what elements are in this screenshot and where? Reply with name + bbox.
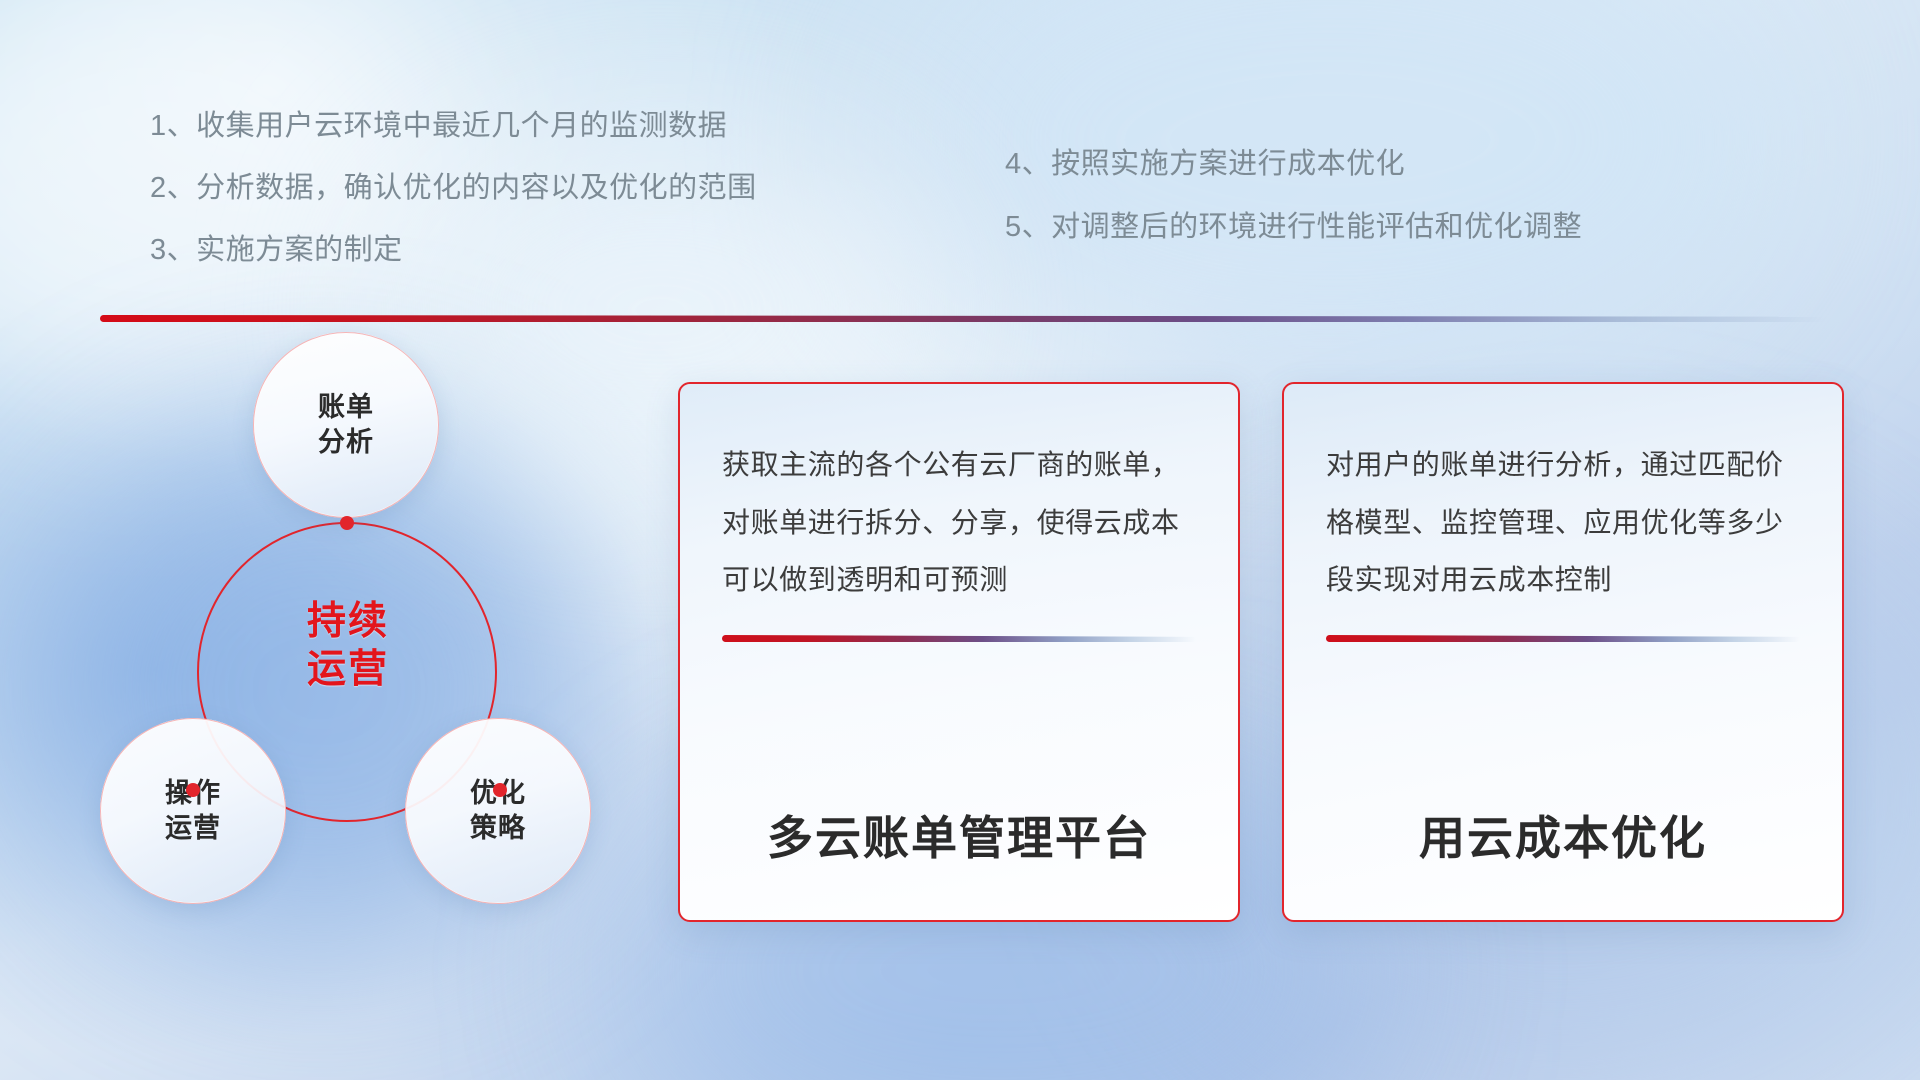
step-item-2: 2、分析数据，确认优化的内容以及优化的范围	[150, 174, 1005, 203]
diagram-center-label: 持续 运营	[263, 598, 433, 693]
bubble-optimization-policy-line-2: 策略	[470, 811, 526, 846]
bubble-bill-analysis-line-1: 账单	[318, 390, 374, 425]
connector-dot-right-icon	[493, 783, 507, 797]
card-1-body: 获取主流的各个公有云厂商的账单，对账单进行拆分、分享，使得云成本可以做到透明和可…	[722, 436, 1196, 609]
card-1-title: 多云账单管理平台	[722, 802, 1196, 886]
bubble-bill-analysis[interactable]: 账单 分析	[253, 332, 439, 518]
bubble-optimization-policy[interactable]: 优化 策略	[405, 718, 591, 904]
step-item-3: 3、实施方案的制定	[150, 236, 1005, 265]
center-label-line-1: 持续	[263, 598, 433, 646]
slide-canvas: 1、收集用户云环境中最近几个月的监测数据 2、分析数据，确认优化的内容以及优化的…	[0, 0, 1920, 1080]
bubble-bill-analysis-line-2: 分析	[318, 425, 374, 460]
connector-dot-top-icon	[340, 516, 354, 530]
card-1-divider	[722, 635, 1196, 642]
card-2-divider	[1326, 635, 1800, 642]
steps-column-right: 4、按照实施方案进行成本优化 5、对调整后的环境进行性能评估和优化调整	[1005, 112, 1810, 298]
step-item-5: 5、对调整后的环境进行性能评估和优化调整	[1005, 213, 1810, 242]
card-2-title: 用云成本优化	[1326, 802, 1800, 886]
card-multi-cloud-bill-platform[interactable]: 获取主流的各个公有云厂商的账单，对账单进行拆分、分享，使得云成本可以做到透明和可…	[678, 382, 1240, 922]
steps-column-left: 1、收集用户云环境中最近几个月的监测数据 2、分析数据，确认优化的内容以及优化的…	[150, 112, 1005, 298]
bubble-operation-ops-line-2: 运营	[165, 811, 221, 846]
step-item-1: 1、收集用户云环境中最近几个月的监测数据	[150, 112, 1005, 141]
step-item-4: 4、按照实施方案进行成本优化	[1005, 150, 1810, 179]
bubble-operation-ops[interactable]: 操作 运营	[100, 718, 286, 904]
steps-list: 1、收集用户云环境中最近几个月的监测数据 2、分析数据，确认优化的内容以及优化的…	[150, 112, 1810, 298]
center-label-line-2: 运营	[263, 646, 433, 694]
connector-dot-left-icon	[186, 783, 200, 797]
card-cloud-cost-optimization[interactable]: 对用户的账单进行分析，通过匹配价格模型、监控管理、应用优化等多少段实现对用云成本…	[1282, 382, 1844, 922]
card-2-body: 对用户的账单进行分析，通过匹配价格模型、监控管理、应用优化等多少段实现对用云成本…	[1326, 436, 1800, 609]
section-divider-rule	[100, 315, 1825, 322]
continuous-operation-diagram: 持续 运营 账单 分析 操作 运营 优化 策略	[95, 340, 625, 960]
